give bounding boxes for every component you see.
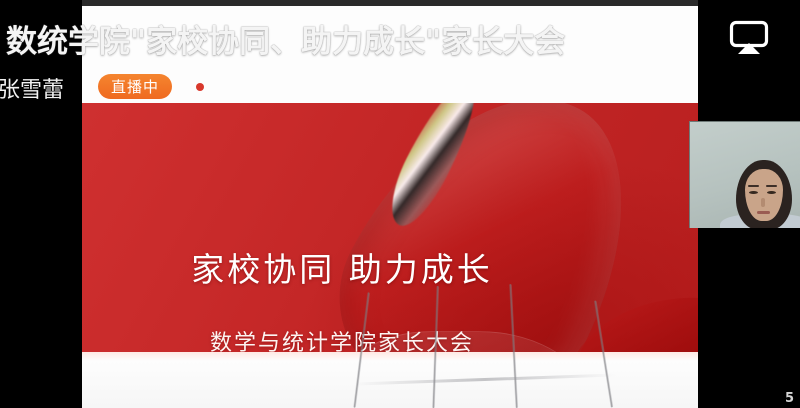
slide-red-panel: 家校协同 助力成长 数学与统计学院家长大会 2020.8.11: [82, 103, 698, 352]
presenter-webcam-pip[interactable]: [689, 121, 800, 228]
pip-eyebrow: [748, 185, 759, 187]
pip-eye: [767, 191, 776, 194]
recording-dot-icon: [196, 83, 204, 91]
pip-eyebrow: [766, 185, 777, 187]
shared-slide-stage: 家校协同 助力成长 数学与统计学院家长大会 2020.8.11: [82, 0, 698, 408]
pip-eye: [749, 191, 758, 194]
page-number: 5: [785, 391, 794, 406]
stream-title: 数统学院"家校协同、助力成长"家长大会: [6, 16, 726, 61]
chair-rim-highlight: [378, 103, 490, 234]
slide-subheading: 数学与统计学院家长大会: [82, 325, 602, 352]
airplay-icon[interactable]: [727, 18, 771, 58]
pip-nose: [761, 198, 765, 207]
presenter-name: 张雪蕾: [0, 72, 64, 104]
pip-mouth: [757, 211, 770, 214]
chair-backrest: [305, 103, 681, 352]
chair-artwork: [82, 103, 698, 352]
live-stream-player: 家校协同 助力成长 数学与统计学院家长大会 2020.8.11 数统学院"家校协…: [0, 0, 800, 408]
slide-heading: 家校协同 助力成长: [82, 243, 602, 291]
live-status-badge: 直播中: [98, 74, 172, 99]
